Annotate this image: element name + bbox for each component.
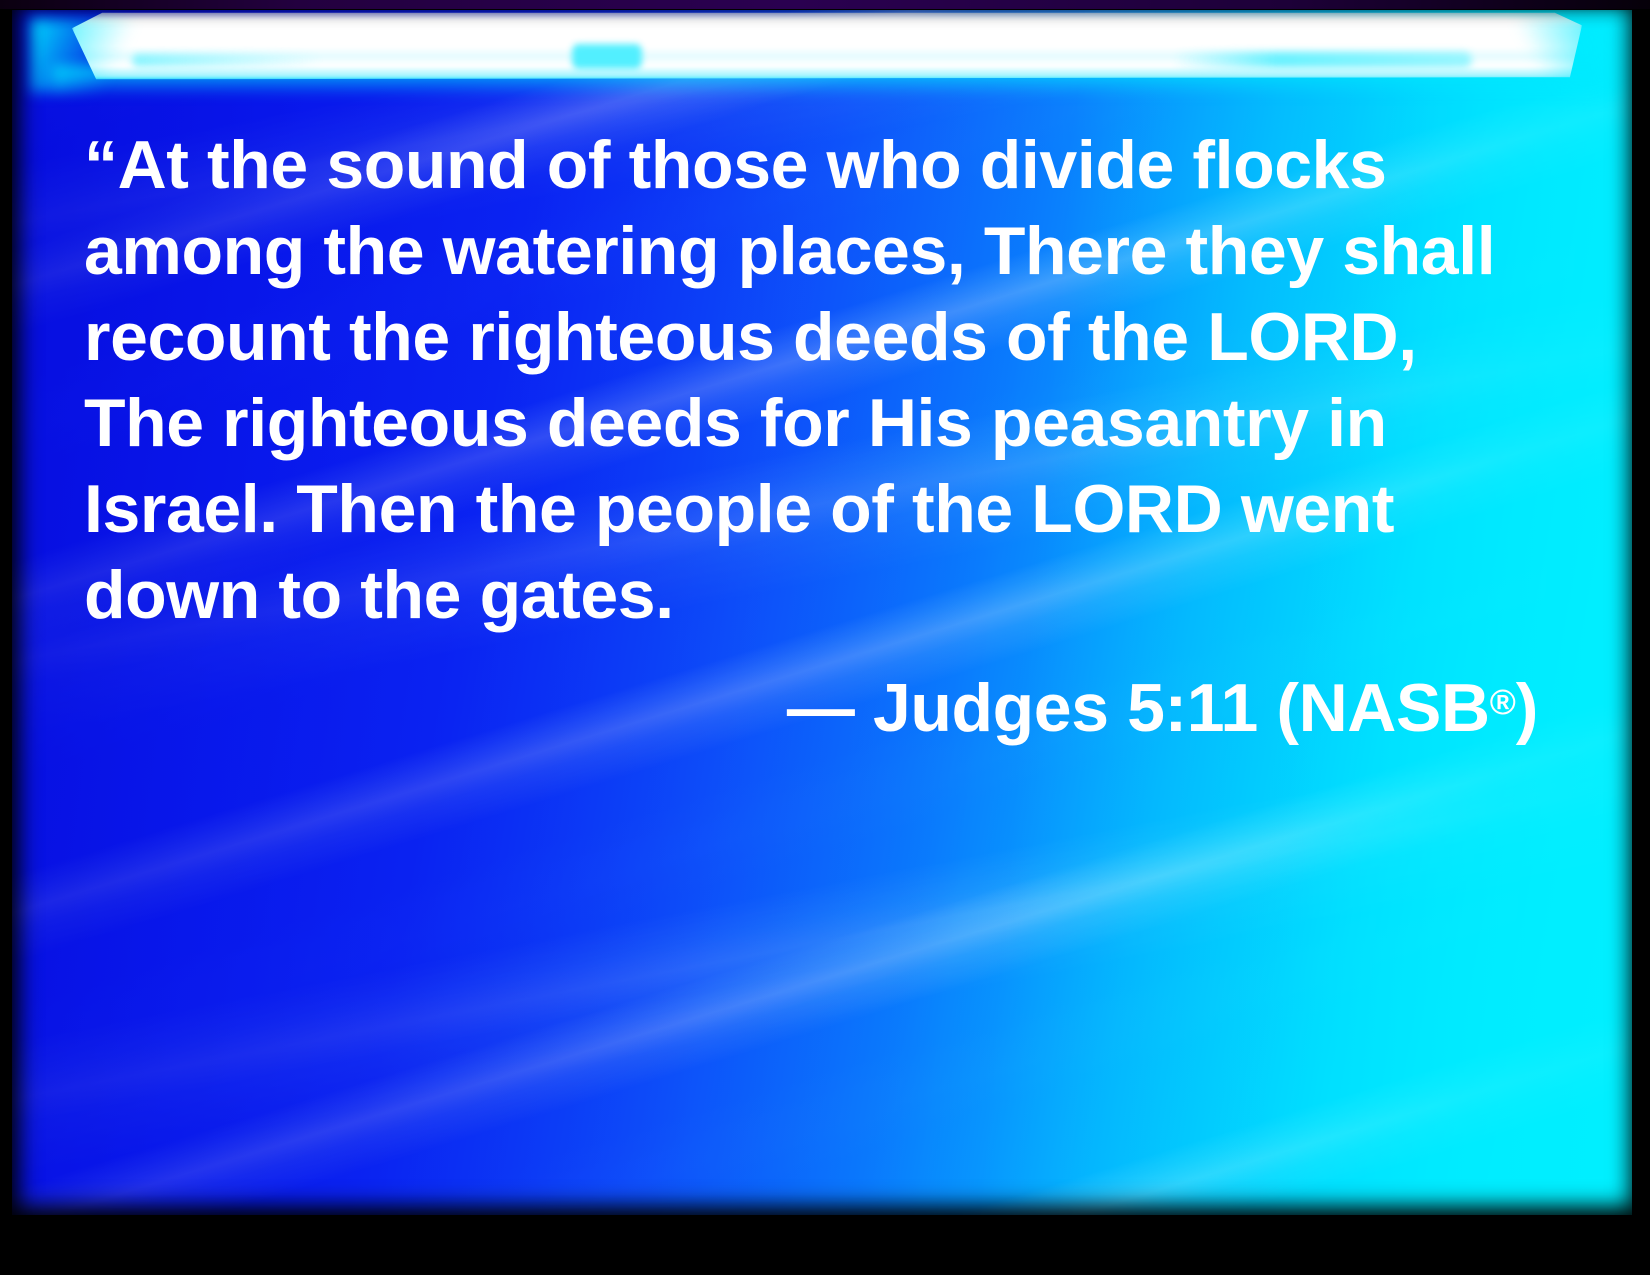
glow-band-left-taper (30, 18, 150, 92)
glow-wisp-right-icon (1172, 52, 1472, 68)
glow-band-right-taper (1502, 18, 1622, 96)
verse-slide: “At the sound of those who divide flocks… (0, 0, 1650, 1275)
attribution-suffix: ) (1516, 670, 1538, 746)
glow-wisp-center-icon (572, 44, 642, 69)
verse-text-block: “At the sound of those who divide flocks… (84, 122, 1544, 751)
registered-trademark-icon: ® (1490, 683, 1516, 722)
top-hairline-divider (0, 0, 1650, 9)
top-glow-band (72, 10, 1582, 80)
verse-attribution: — Judges 5:11 (NASB®) (84, 638, 1544, 751)
slide-artwork: “At the sound of those who divide flocks… (12, 10, 1632, 1215)
attribution-prefix: — Judges 5:11 (NASB (787, 670, 1490, 746)
verse-body-text: “At the sound of those who divide flocks… (84, 122, 1544, 638)
glow-wisp-left-icon (132, 54, 322, 67)
